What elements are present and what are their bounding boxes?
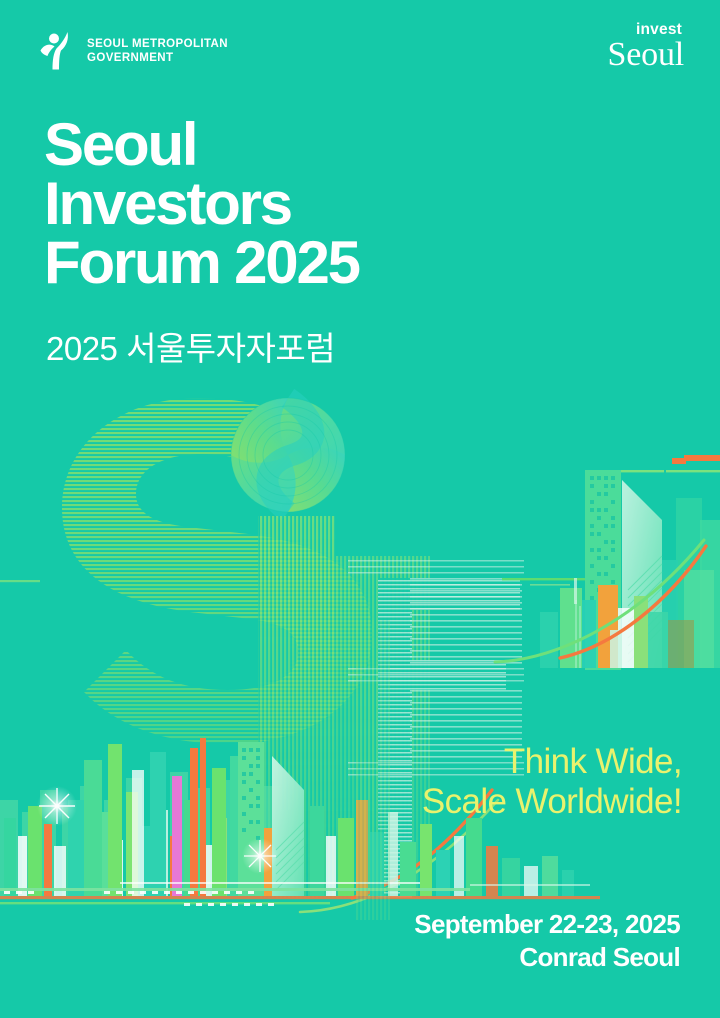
accent-lines-top-right [0,455,720,586]
invest-seoul-bottom: Seoul [608,39,684,71]
tagline-line-2: Scale Worldwide! [422,782,682,822]
cityscape-right [540,470,720,670]
monogram-f-bars [410,578,522,758]
smg-logo-text: SEOUL METROPOLITAN GOVERNMENT [87,37,228,66]
poster-root: SEOUL METROPOLITAN GOVERNMENT invest Seo… [0,0,720,1018]
smg-logo: SEOUL METROPOLITAN GOVERNMENT [38,30,228,72]
monogram-i-secondary [330,540,440,920]
monogram-f [370,560,540,910]
tagline: Think Wide, Scale Worldwide! [422,742,682,822]
swoosh-curves [300,540,706,912]
title-line-3: Forum 2025 [44,234,359,293]
vertical-fade-column [356,620,390,920]
event-date: September 22-23, 2025 [414,908,680,941]
monogram-i [250,500,350,920]
monogram-s [40,380,400,760]
title-line-2: Investors [44,175,359,234]
tagline-line-1: Think Wide, [422,742,682,782]
event-venue: Conrad Seoul [414,941,680,974]
smg-line-1: SEOUL METROPOLITAN [87,37,228,51]
invest-seoul-logo: invest Seoul [608,22,684,71]
title-line-1: Seoul [44,116,359,175]
event-details: September 22-23, 2025 Conrad Seoul [414,908,680,973]
monogram-swirl [231,398,345,512]
seoul-metropolitan-government-logo-icon [38,30,78,72]
lens-flare [37,786,278,874]
smg-line-2: GOVERNMENT [87,51,228,65]
poster-header: SEOUL METROPOLITAN GOVERNMENT invest Seo… [0,0,720,110]
page-title: Seoul Investors Forum 2025 [44,116,359,292]
page-subtitle-korean: 2025 서울투자자포럼 [46,322,335,370]
